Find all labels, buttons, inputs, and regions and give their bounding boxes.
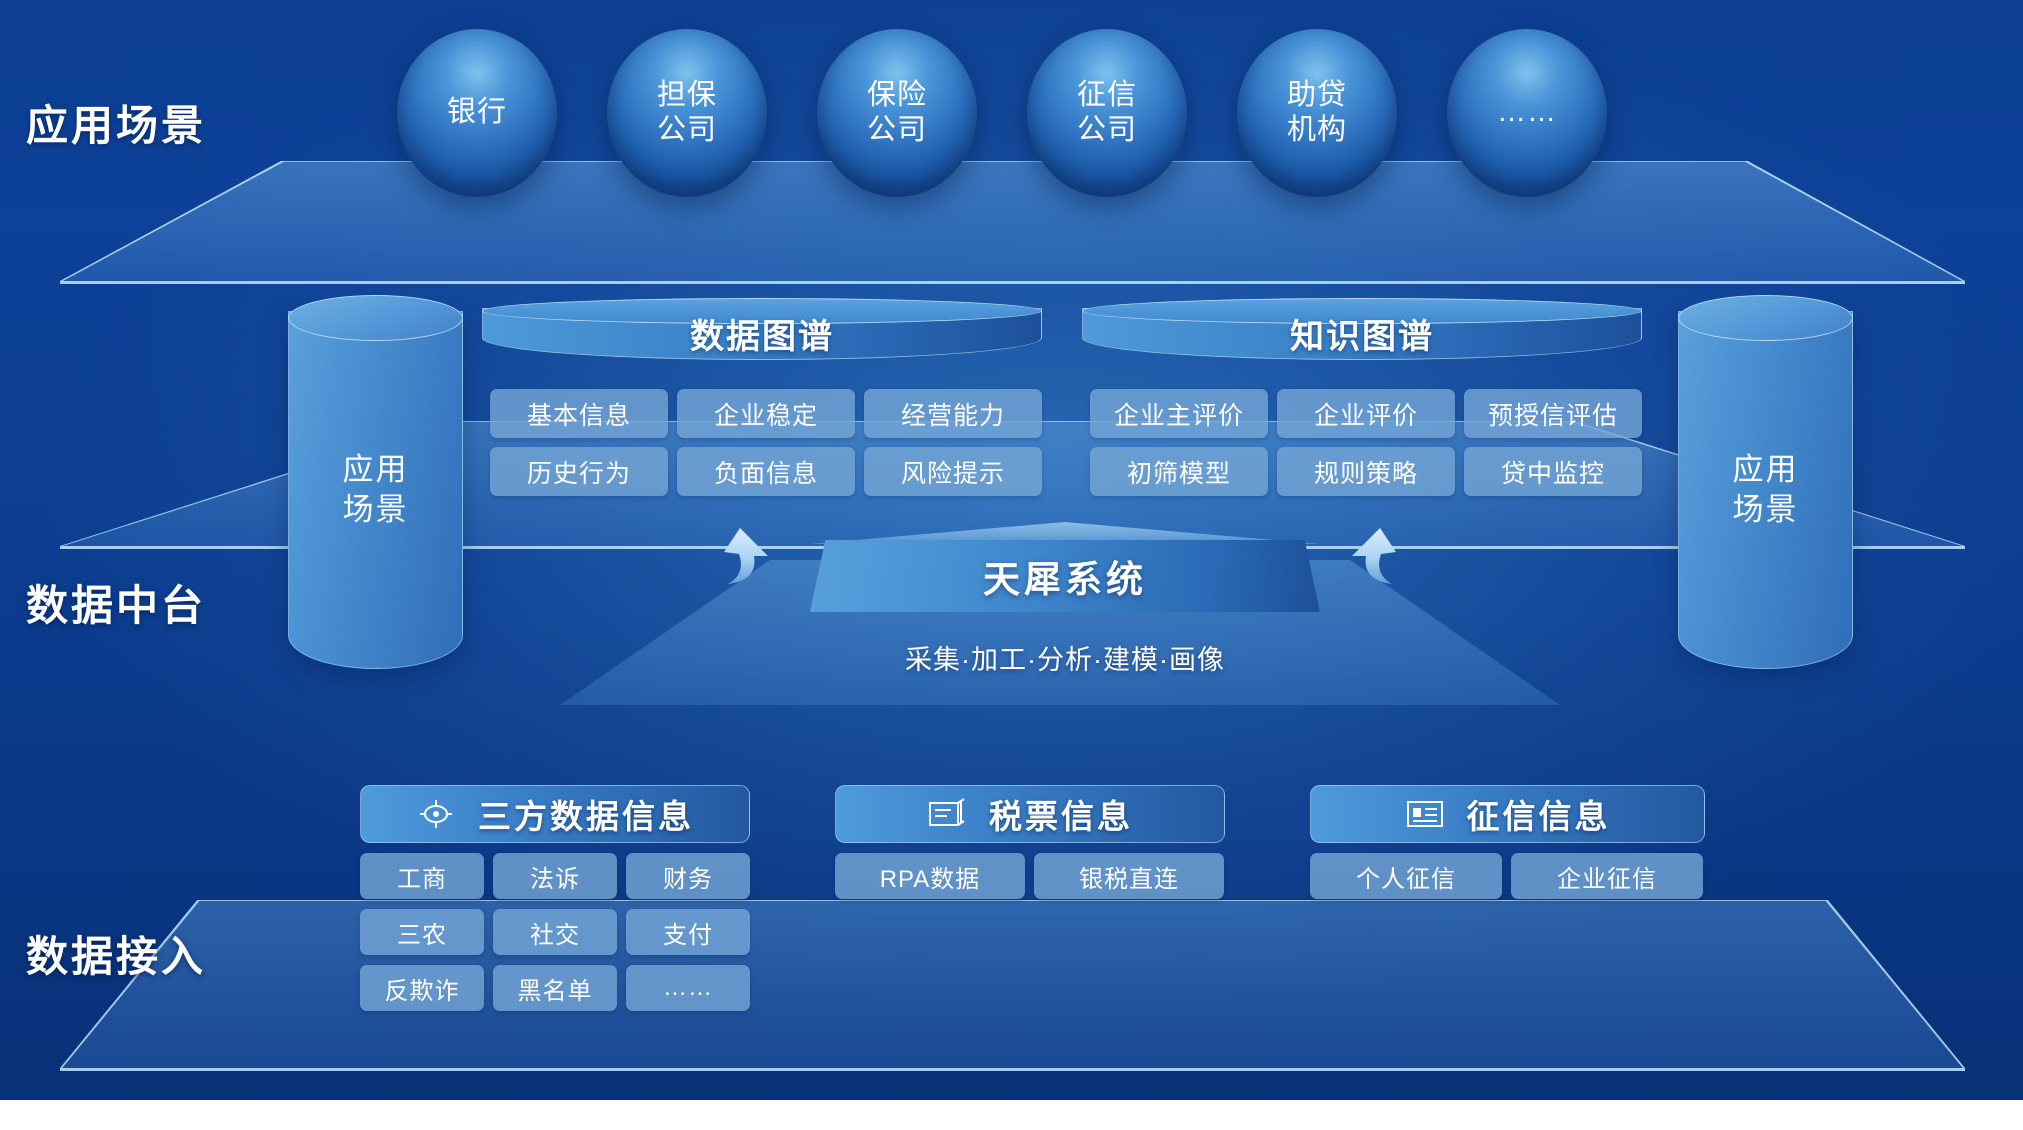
cylinder-label: 应用 场景	[288, 295, 463, 685]
source-chip[interactable]: 三农	[360, 909, 484, 955]
application-layer-platform	[60, 161, 1965, 281]
section-label-access: 数据接入	[26, 923, 206, 984]
sphere-line-2: 公司	[657, 113, 717, 148]
source-chip[interactable]: 个人征信	[1310, 853, 1502, 899]
sphere-line-2: 机构	[1287, 113, 1347, 148]
sphere-line-1: ……	[1497, 95, 1557, 130]
tag-chip[interactable]: 企业评价	[1277, 389, 1455, 438]
cylinder-label: 应用 场景	[1678, 295, 1853, 685]
tag-chip[interactable]: 预授信评估	[1464, 389, 1642, 438]
sphere-line-2: 公司	[1077, 113, 1137, 148]
sphere-line-1: 征信	[1077, 78, 1137, 113]
tag-chip[interactable]: 经营能力	[864, 389, 1042, 438]
tianxi-system-subtitle: 采集·加工·分析·建模·画像	[810, 638, 1320, 677]
tag-chip[interactable]: 历史行为	[490, 447, 668, 496]
section-label-middle: 数据中台	[26, 572, 206, 633]
sphere-line-1: 保险	[867, 78, 927, 113]
third-party-header[interactable]: 三方数据信息	[360, 785, 750, 843]
source-chip[interactable]: 社交	[493, 909, 617, 955]
left-up-arrow-icon	[706, 522, 798, 614]
section-label-application: 应用场景	[26, 92, 206, 153]
third-party-title: 三方数据信息	[478, 790, 694, 838]
target-icon	[416, 797, 456, 831]
platform-face	[60, 900, 1965, 1068]
tax-row-1: RPA数据 银税直连	[835, 853, 1225, 899]
tag-chip[interactable]: 初筛模型	[1090, 447, 1268, 496]
cylinder-label-line-1: 应用	[343, 450, 409, 490]
data-graph-header[interactable]: 数据图谱	[482, 298, 1042, 368]
source-chip[interactable]: 工商	[360, 853, 484, 899]
tianxi-system-label: 天犀系统	[810, 540, 1320, 612]
scenario-sphere-credit-bureau[interactable]: 征信 公司	[1027, 29, 1187, 197]
source-chip[interactable]: 财务	[626, 853, 750, 899]
tag-chip[interactable]: 规则策略	[1277, 447, 1455, 496]
third-party-row-1: 工商 法诉 财务	[360, 853, 750, 899]
tax-title: 税票信息	[989, 790, 1133, 838]
knowledge-graph-header[interactable]: 知识图谱	[1082, 298, 1642, 368]
source-chip[interactable]: 银税直连	[1034, 853, 1224, 899]
cylinder-label-line-2: 场景	[343, 490, 409, 530]
source-chip[interactable]: ……	[626, 965, 750, 1011]
platform-face	[60, 161, 1965, 281]
sphere-line-1: 担保	[657, 78, 717, 113]
scenario-sphere-insurance[interactable]: 保险 公司	[817, 29, 977, 197]
cylinder-label-line-1: 应用	[1733, 450, 1799, 490]
scenario-sphere-guarantee[interactable]: 担保 公司	[607, 29, 767, 197]
platform-base-line	[60, 1068, 1965, 1071]
data-graph-tag-grid: 基本信息 企业稳定 经营能力 历史行为 负面信息 风险提示	[490, 389, 1042, 496]
knowledge-graph-tag-grid: 企业主评价 企业评价 预授信评估 初筛模型 规则策略 贷中监控	[1090, 389, 1642, 496]
source-group-third-party: 三方数据信息 工商 法诉 财务 三农 社交 支付 反欺诈 黑名单 ……	[360, 785, 750, 1011]
scenario-sphere-bank[interactable]: 银行	[397, 29, 557, 197]
credit-row-1: 个人征信 企业征信	[1310, 853, 1705, 899]
source-chip[interactable]: 反欺诈	[360, 965, 484, 1011]
right-up-arrow-icon	[1322, 522, 1414, 614]
diagram-canvas: 应用场景 数据中台 数据接入 银行 担保 公司 保险 公司 征信 公司	[0, 0, 2023, 1100]
sphere-line-1: 助贷	[1287, 78, 1347, 113]
left-application-cylinder[interactable]: 应用 场景	[288, 295, 463, 685]
invoice-icon	[927, 797, 967, 831]
cylinder-label-line-2: 场景	[1733, 490, 1799, 530]
scenario-sphere-more[interactable]: ……	[1447, 29, 1607, 197]
tag-chip[interactable]: 基本信息	[490, 389, 668, 438]
source-group-credit: 征信信息 个人征信 企业征信	[1310, 785, 1705, 899]
tag-chip[interactable]: 企业主评价	[1090, 389, 1268, 438]
data-graph-title: 数据图谱	[482, 298, 1042, 368]
source-chip[interactable]: 企业征信	[1511, 853, 1703, 899]
source-chip[interactable]: 黑名单	[493, 965, 617, 1011]
third-party-row-3: 反欺诈 黑名单 ……	[360, 965, 750, 1011]
right-application-cylinder[interactable]: 应用 场景	[1678, 295, 1853, 685]
tianxi-system-banner[interactable]: 天犀系统	[810, 540, 1320, 612]
data-access-layer-platform	[60, 900, 1965, 1068]
source-chip[interactable]: RPA数据	[835, 853, 1025, 899]
tax-header[interactable]: 税票信息	[835, 785, 1225, 843]
knowledge-graph-title: 知识图谱	[1082, 298, 1642, 368]
scenario-sphere-loan-facilitator[interactable]: 助贷 机构	[1237, 29, 1397, 197]
tag-chip[interactable]: 贷中监控	[1464, 447, 1642, 496]
architecture-diagram: 应用场景 数据中台 数据接入 银行 担保 公司 保险 公司 征信 公司	[0, 0, 2023, 1130]
tag-chip[interactable]: 风险提示	[864, 447, 1042, 496]
source-chip[interactable]: 法诉	[493, 853, 617, 899]
source-group-tax: 税票信息 RPA数据 银税直连	[835, 785, 1225, 899]
credit-header[interactable]: 征信信息	[1310, 785, 1705, 843]
third-party-row-2: 三农 社交 支付	[360, 909, 750, 955]
tag-chip[interactable]: 企业稳定	[677, 389, 855, 438]
credit-title: 征信信息	[1467, 790, 1611, 838]
source-chip[interactable]: 支付	[626, 909, 750, 955]
sphere-line-2: 公司	[867, 113, 927, 148]
id-card-icon	[1405, 797, 1445, 831]
sphere-line-1: 银行	[447, 95, 507, 130]
platform-base-line	[60, 281, 1965, 284]
tag-chip[interactable]: 负面信息	[677, 447, 855, 496]
